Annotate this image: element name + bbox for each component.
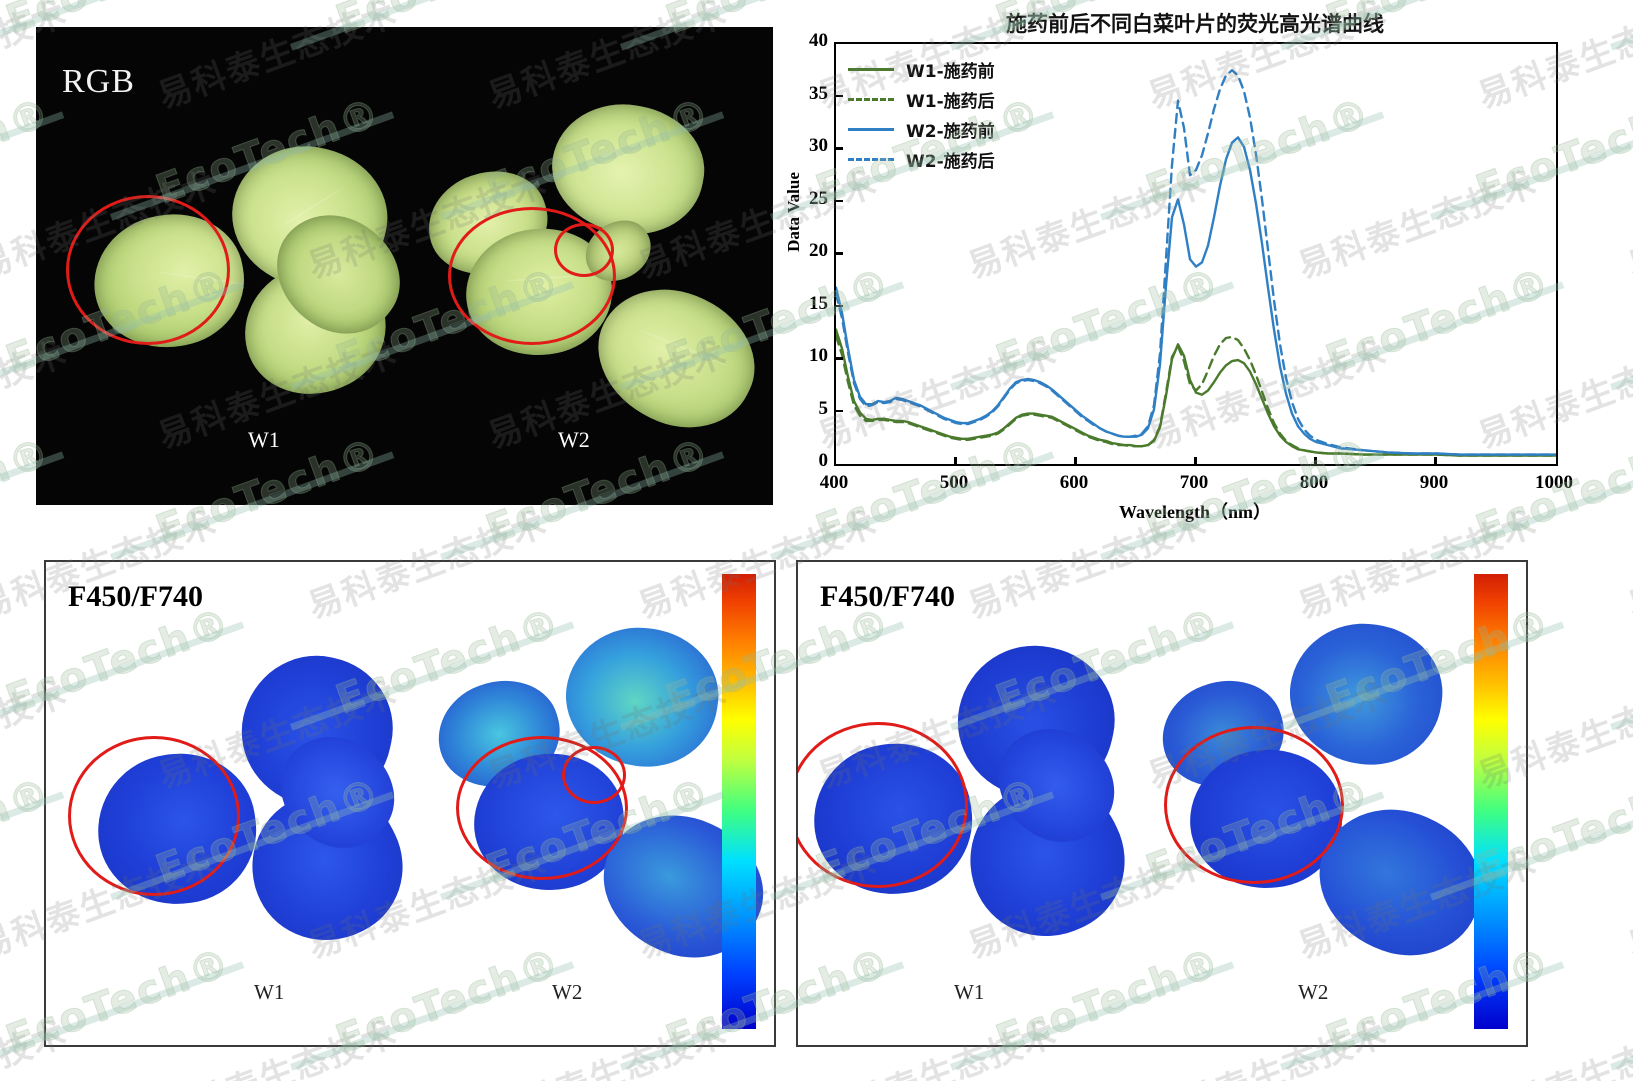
- y-tick-label: 40: [788, 30, 828, 52]
- y-tick-label: 5: [788, 398, 828, 420]
- spectral-chart-panel: 施药前后不同白菜叶片的荧光高光谱曲线 0510152025303540 4005…: [790, 6, 1600, 526]
- x-tick-mark: [954, 457, 957, 466]
- legend-item-2: W2-施药前: [848, 114, 995, 144]
- fluor-right-plant-label-w2: W2: [1298, 980, 1328, 1005]
- watermark-text-cn: 易科泰生态技术: [1620, 836, 1633, 968]
- x-tick-mark: [1194, 457, 1197, 466]
- annotation-circle-w2-small: [554, 223, 614, 277]
- watermark-bar: [1610, 0, 1633, 51]
- x-tick-label: 400: [804, 472, 864, 494]
- legend-item-0: W1-施药前: [848, 54, 995, 84]
- chart-legend: W1-施药前W1-施药后W2-施药前W2-施药后: [848, 54, 995, 174]
- y-tick-mark: [834, 147, 843, 150]
- fluorescence-panel-left: F450/F740 W1 W2: [44, 560, 776, 1047]
- x-tick-mark: [1074, 457, 1077, 466]
- x-tick-label: 900: [1404, 472, 1464, 494]
- x-tick-label: 1000: [1524, 472, 1584, 494]
- annotation-circle-w1: [66, 195, 230, 345]
- fluor-left-plant-label-w1: W1: [254, 980, 284, 1005]
- watermark-text-cn: 易科泰生态技术: [1620, 156, 1633, 288]
- y-tick-label: 15: [788, 293, 828, 315]
- y-tick-label: 35: [788, 83, 828, 105]
- fluor-left-label: F450/F740: [68, 580, 203, 614]
- x-tick-mark: [1314, 457, 1317, 466]
- rgb-photo-panel: RGB W1 W2: [36, 27, 773, 505]
- x-tick-label: 600: [1044, 472, 1104, 494]
- rgb-plant-label-w2: W2: [558, 427, 590, 453]
- x-tick-label: 700: [1164, 472, 1224, 494]
- legend-swatch-icon: [848, 62, 894, 76]
- rgb-panel-label: RGB: [62, 63, 135, 101]
- watermark-text-cn: 易科泰生态技术: [1620, 496, 1633, 628]
- chart-title: 施药前后不同白菜叶片的荧光高光谱曲线: [790, 8, 1600, 38]
- legend-item-1: W1-施药后: [848, 84, 995, 114]
- legend-label: W2-施药后: [906, 147, 995, 172]
- chart-y-axis-label: Data Value: [784, 172, 804, 252]
- rgb-plant-label-w1: W1: [248, 427, 280, 453]
- y-tick-mark: [834, 200, 843, 203]
- watermark-bar: [1610, 281, 1633, 390]
- fluor2-annotation-circle-w2: [1164, 726, 1344, 884]
- chart-series-1: [836, 336, 1556, 456]
- watermark-bar: [1610, 621, 1633, 730]
- x-tick-label: 800: [1284, 472, 1344, 494]
- fluor-annotation-circle-w1: [68, 736, 240, 896]
- y-tick-label: 10: [788, 345, 828, 367]
- colorbar-left: [722, 574, 756, 1029]
- x-tick-label: 500: [924, 472, 984, 494]
- legend-label: W1-施药后: [906, 87, 995, 112]
- y-tick-label: 0: [788, 450, 828, 472]
- watermark-bar: [1610, 961, 1633, 1070]
- fluor-left-plant-label-w2: W2: [552, 980, 582, 1005]
- x-tick-mark: [1434, 457, 1437, 466]
- y-tick-mark: [834, 357, 843, 360]
- figure-root: RGB W1 W2 施药前后不同白菜叶片的荧光高光谱曲线 05101520253…: [0, 0, 1633, 1081]
- legend-label: W1-施药前: [906, 57, 995, 82]
- legend-swatch-icon: [848, 122, 894, 136]
- legend-swatch-icon: [848, 92, 894, 106]
- y-tick-mark: [834, 410, 843, 413]
- y-tick-mark: [834, 252, 843, 255]
- fluorescence-panel-right: F450/F740 W1 W2: [796, 560, 1528, 1047]
- chart-x-axis-label: Wavelength（nm）: [790, 498, 1600, 524]
- y-tick-mark: [834, 95, 843, 98]
- y-tick-label: 30: [788, 135, 828, 157]
- y-tick-mark: [834, 305, 843, 308]
- legend-swatch-icon: [848, 152, 894, 166]
- fluor-right-label: F450/F740: [820, 580, 955, 614]
- fluor-annotation-circle-w2-small: [562, 746, 626, 804]
- chart-series-2: [836, 137, 1556, 454]
- fluor2-annotation-circle-w1: [796, 722, 968, 888]
- fluor-right-plant-label-w1: W1: [954, 980, 984, 1005]
- colorbar-right: [1474, 574, 1508, 1029]
- legend-item-3: W2-施药后: [848, 144, 995, 174]
- legend-label: W2-施药前: [906, 117, 995, 142]
